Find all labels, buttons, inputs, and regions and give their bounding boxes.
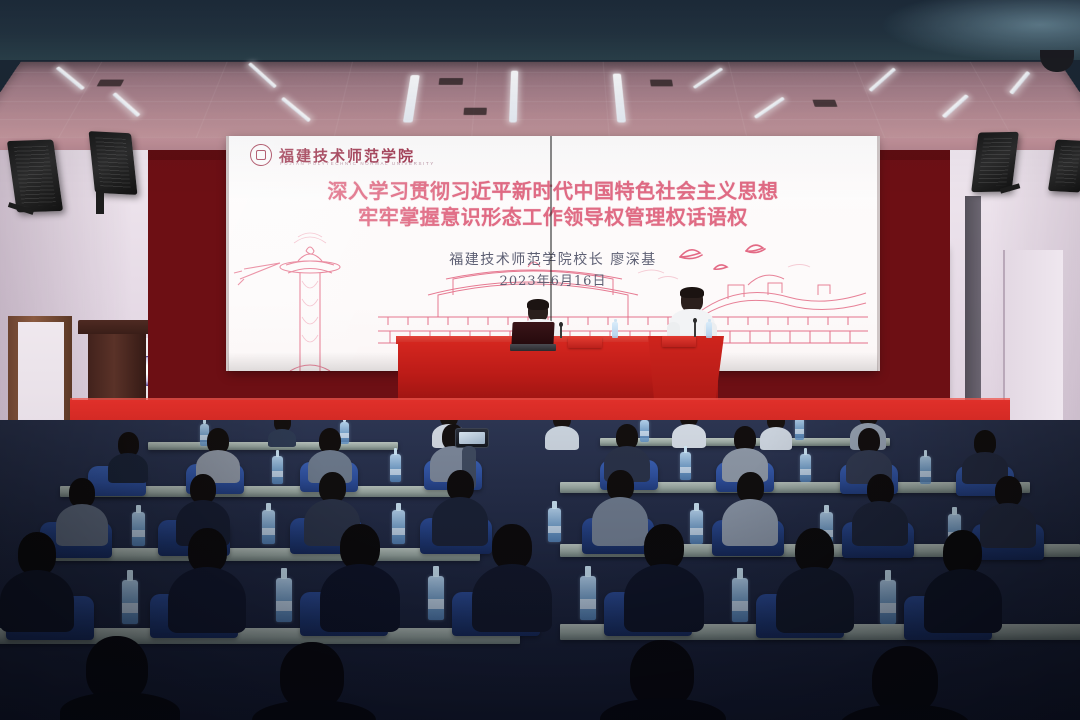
table-water-bottle bbox=[706, 322, 712, 338]
ceiling-tube-light bbox=[1009, 71, 1031, 95]
conference-hall-photo: 福建技术师范学院 FUJIAN POLYTECHNIC NORMAL UNIVE… bbox=[0, 0, 1080, 720]
ceiling-tube-light bbox=[55, 66, 85, 90]
ceiling-tube-light bbox=[942, 94, 970, 118]
nameplate-left bbox=[568, 337, 602, 348]
wall-speaker-icon bbox=[971, 132, 1019, 192]
speaker-bracket bbox=[96, 190, 104, 214]
wall-speaker-icon bbox=[7, 140, 63, 213]
laptop-base[interactable] bbox=[510, 344, 556, 351]
screen-frame-right bbox=[877, 136, 880, 371]
microphone-left bbox=[560, 326, 562, 338]
nameplate-right bbox=[662, 336, 696, 347]
audience-vignette bbox=[0, 420, 1080, 720]
ceiling-tube-light bbox=[613, 74, 626, 123]
ceiling-tube-light bbox=[753, 97, 785, 120]
ceiling-tube-light bbox=[112, 92, 141, 117]
ceiling-tube-light bbox=[403, 75, 420, 122]
screen-frame-left bbox=[226, 136, 229, 371]
table-water-bottle bbox=[612, 322, 618, 338]
ceiling-tube-light bbox=[509, 71, 518, 123]
laptop-lid[interactable] bbox=[511, 322, 554, 346]
microphone-right bbox=[694, 322, 696, 337]
podium-top bbox=[78, 320, 156, 334]
wall-speaker-icon bbox=[89, 131, 138, 195]
audience-area bbox=[0, 420, 1080, 720]
ceiling-tube-light bbox=[248, 62, 278, 88]
